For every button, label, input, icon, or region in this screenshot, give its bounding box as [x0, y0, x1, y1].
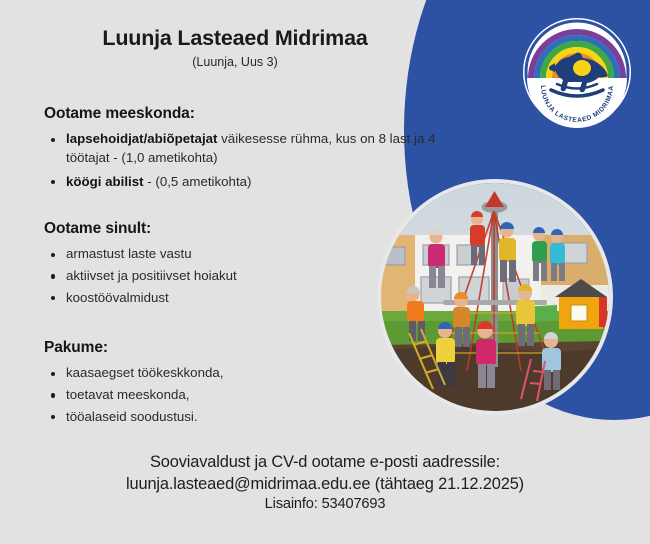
contact-phone: Lisainfo: 53407693	[0, 495, 650, 514]
section-heading: Pakume:	[44, 339, 374, 357]
list-item-text: kaasaegset töökeskkonda,	[66, 365, 223, 380]
list-item: koostöövalmidust	[44, 289, 374, 308]
list-item: kaasaegset töökeskkonda,	[44, 364, 374, 383]
section-heading: Ootame sinult:	[44, 220, 374, 238]
section-list: lapsehoidjat/abiõpetajat väikesesse rühm…	[44, 130, 444, 192]
contact-instruction: Sooviavaldust ja CV-d ootame e-posti aad…	[0, 452, 650, 474]
section-ootame-meeskonda: Ootame meeskonda: lapsehoidjat/abiõpetaj…	[44, 105, 444, 197]
list-item: toetavat meeskonda,	[44, 386, 374, 405]
list-item: armastust laste vastu	[44, 245, 374, 264]
luunja-lasteaed-midrimaa-logo: LUUNJA LASTEAED MIDRIMAA	[521, 16, 633, 128]
section-list: kaasaegset töökeskkonda, toetavat meesko…	[44, 364, 374, 427]
page-title: Luunja Lasteaed Midrimaa	[0, 26, 470, 51]
section-list: armastust laste vastu aktiivset ja posit…	[44, 245, 374, 308]
list-item-emphasis: köögi abilist	[66, 174, 144, 189]
list-item: tööalaseid soodustusi.	[44, 408, 374, 427]
section-heading: Ootame meeskonda:	[44, 105, 444, 123]
section-ootame-sinult: Ootame sinult: armastust laste vastu akt…	[44, 220, 374, 311]
job-advert-poster: LUUNJA LASTEAED MIDRIMAA Luunja Lasteaed…	[0, 0, 650, 544]
list-item-text: aktiivset ja positiivset hoiakut	[66, 268, 237, 283]
contact-footer: Sooviavaldust ja CV-d ootame e-posti aad…	[0, 452, 650, 515]
list-item-text: toetavat meeskonda,	[66, 387, 189, 402]
list-item: köögi abilist - (0,5 ametikohta)	[44, 173, 444, 192]
photo-image	[381, 183, 609, 411]
list-item: aktiivset ja positiivset hoiakut	[44, 267, 374, 286]
list-item-text: tööalaseid soodustusi.	[66, 409, 198, 424]
list-item-emphasis: lapsehoidjat/abiõpetajat	[66, 131, 217, 146]
list-item-text: - (0,5 ametikohta)	[144, 174, 252, 189]
list-item-text: armastust laste vastu	[66, 246, 192, 261]
kindergarten-staff-playground-photo	[381, 183, 609, 411]
contact-email-deadline: luunja.lasteaed@midrimaa.edu.ee (tähtaeg…	[0, 474, 650, 496]
page-subtitle: (Luunja, Uus 3)	[0, 55, 470, 70]
list-item: lapsehoidjat/abiõpetajat väikesesse rühm…	[44, 130, 444, 168]
list-item-text: koostöövalmidust	[66, 290, 169, 305]
poster-header: Luunja Lasteaed Midrimaa (Luunja, Uus 3)	[0, 26, 470, 70]
section-pakume: Pakume: kaasaegset töökeskkonda, toetava…	[44, 339, 374, 430]
